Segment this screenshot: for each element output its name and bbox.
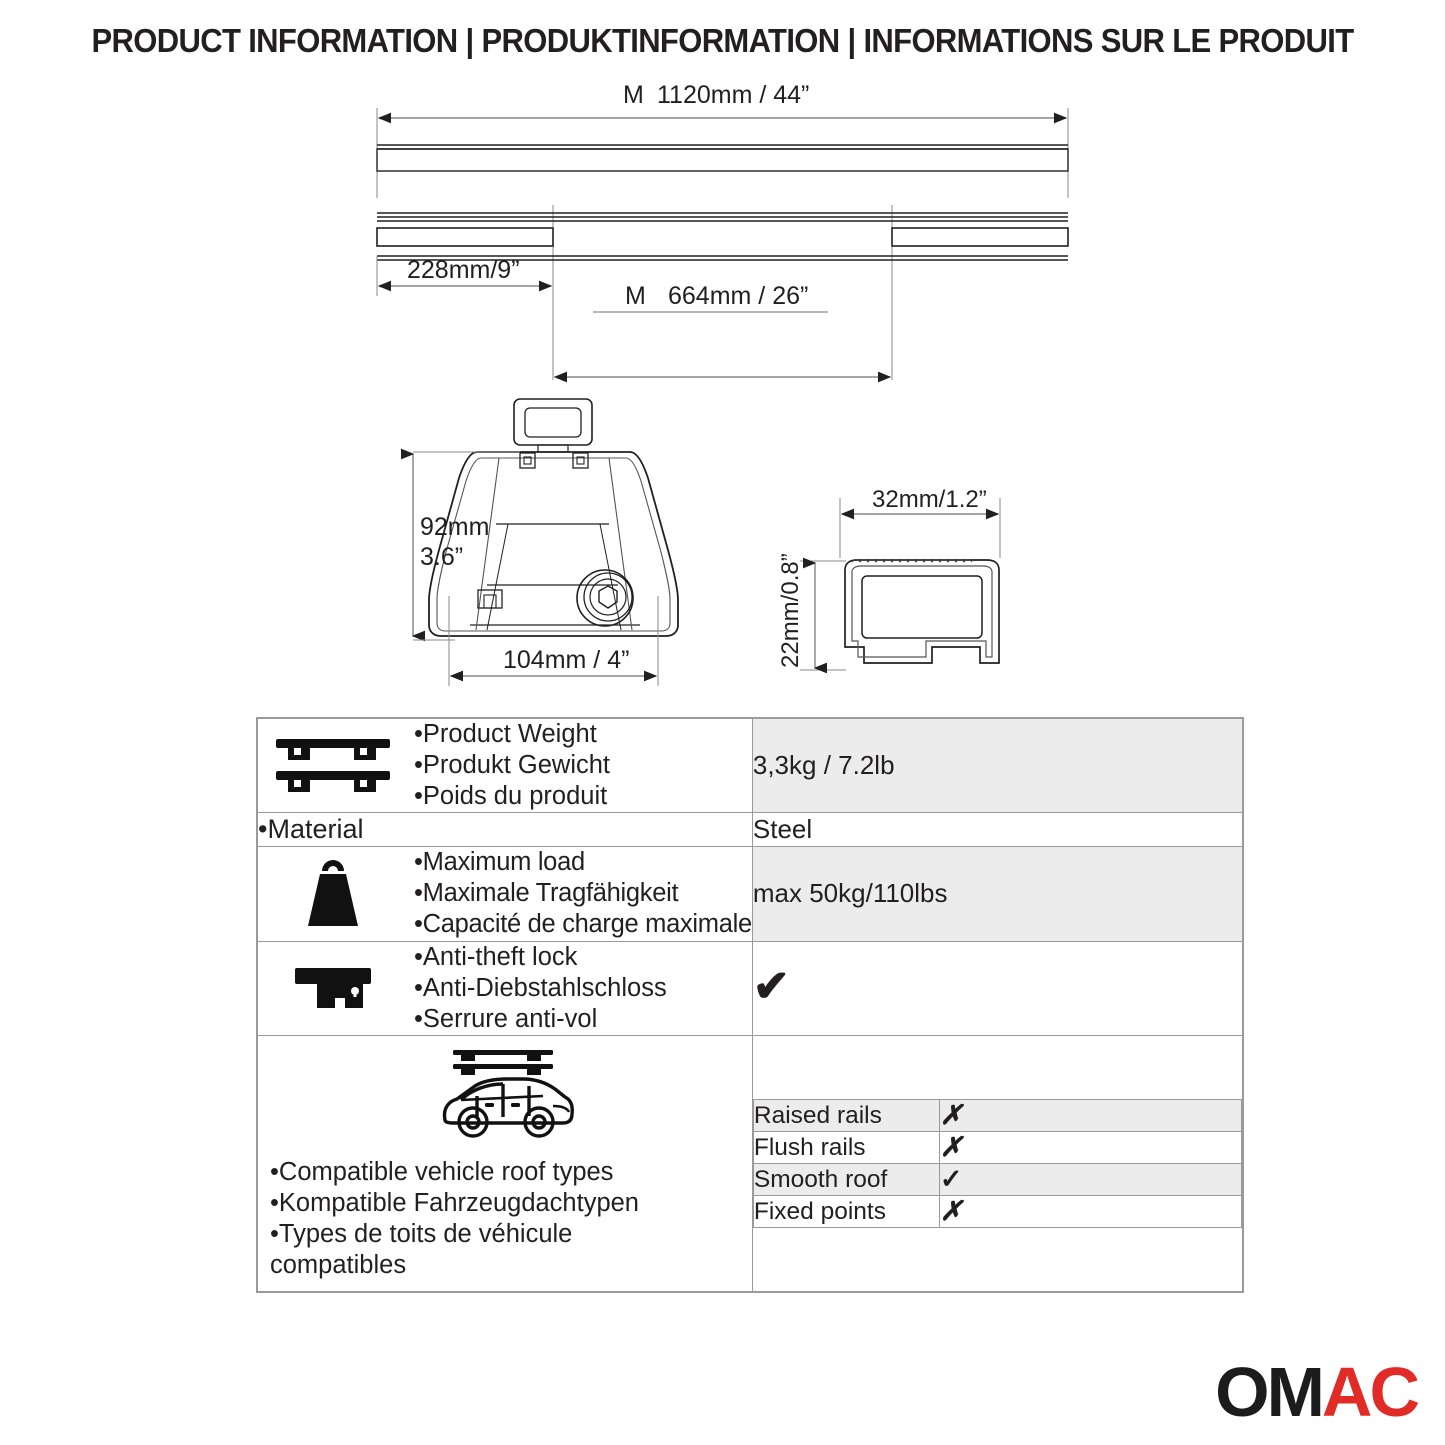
dim-foot-offset-value: 228mm/9” [407,256,520,284]
check-icon: ✔ [753,962,790,1011]
label-line: •Poids du produit [414,781,610,812]
technical-drawing: M 1120mm / 44” 228mm/9” M 664mm / 26” 92… [0,80,1445,710]
cross-icon: ✗ [940,1100,963,1130]
logo-text-dark: OM [1215,1353,1322,1431]
spec-label-cell: •Anti-theft lock •Anti-Diebstahlschloss … [258,941,753,1035]
cross-icon: ✗ [940,1196,963,1226]
roof-types-label-cell: •Compatible vehicle roof types •Kompatib… [258,1035,753,1291]
table-row: •Maximum load •Maximale Tragfähigkeit •C… [258,847,1243,941]
roof-type-mark: ✓ [939,1164,1241,1196]
label-line: •Anti-Diebstahlschloss [414,973,667,1004]
dim-foot-spread-value: 664mm / 26” [668,282,808,310]
dim-profile-width-value: 32mm/1.2” [872,486,987,513]
spec-value-max-load: max 50kg/110lbs [752,847,1242,941]
cross-icon: ✗ [940,1132,963,1162]
label-line: •Material [258,813,752,846]
label-line: •Compatible vehicle roof types [270,1157,639,1188]
label-line: •Serrure anti-vol [414,1004,667,1035]
dim-bar-length-value: 1120mm / 44” [657,81,809,109]
spec-label-text: •Maximum load •Maximale Tragfähigkeit •C… [414,847,752,940]
spec-value-weight: 3,3kg / 7.2lb [752,719,1242,813]
roof-types-label-text: •Compatible vehicle roof types •Kompatib… [258,1157,639,1281]
roof-type-mark: ✗ [939,1100,1241,1132]
dim-foot-height-line1: 92mm [420,513,489,541]
roof-type-mark: ✗ [939,1132,1241,1164]
label-line: •Product Weight [414,719,610,750]
dim-foot-height-line2: 3.6” [420,543,463,571]
roof-type-row: Smooth roof ✓ [753,1164,1241,1196]
label-line: •Produkt Gewicht [414,750,610,781]
car-with-rack-icon [431,1044,579,1153]
page-title: PRODUCT INFORMATION | PRODUKTINFORMATION… [43,22,1401,60]
dim-profile-height-value: 22mm/0.8” [777,553,804,668]
table-row: •Material Steel [258,813,1243,847]
omac-logo: OMAC [1215,1357,1417,1427]
label-line: •Maximum load [414,847,752,878]
roof-type-row: Fixed points ✗ [753,1196,1241,1228]
roof-type-mark: ✗ [939,1196,1241,1228]
weight-icon [258,858,408,930]
roof-type-row: Raised rails ✗ [753,1100,1241,1132]
table-row: •Compatible vehicle roof types •Kompatib… [258,1035,1243,1291]
label-line: •Types de toits de véhicule [270,1219,639,1250]
spec-label-text: •Anti-theft lock •Anti-Diebstahlschloss … [414,942,667,1035]
dim-bar-length-prefix: M [623,81,644,109]
label-line: •Capacité de charge maximale [414,909,752,940]
roof-types-table: Raised rails ✗ Flush rails ✗ Smooth roof… [753,1099,1242,1228]
spec-value-anti-theft: ✔ [752,941,1242,1035]
roof-type-name: Flush rails [753,1132,939,1164]
label-line: compatibles [270,1250,639,1281]
table-row: •Anti-theft lock •Anti-Diebstahlschloss … [258,941,1243,1035]
spec-label-text: •Product Weight •Produkt Gewicht •Poids … [414,719,610,812]
roof-type-name: Raised rails [753,1100,939,1132]
spec-label-cell: •Product Weight •Produkt Gewicht •Poids … [258,719,753,813]
crossbars-icon [258,735,408,797]
spec-label-cell: •Maximum load •Maximale Tragfähigkeit •C… [258,847,753,941]
dim-foot-spread-prefix: M [625,282,646,310]
check-icon: ✓ [940,1164,963,1194]
roof-type-row: Flush rails ✗ [753,1132,1241,1164]
roof-types-table-cell: Raised rails ✗ Flush rails ✗ Smooth roof… [752,1035,1242,1291]
logo-text-red: AC [1322,1353,1417,1431]
lock-icon [258,960,408,1016]
dim-foot-width-value: 104mm / 4” [503,646,629,674]
spec-label-text: •Material [258,813,752,846]
label-line: •Maximale Tragfähigkeit [414,878,752,909]
roof-type-name: Fixed points [753,1196,939,1228]
spec-label-cell: •Material [258,813,753,847]
roof-type-name: Smooth roof [753,1164,939,1196]
spec-table: •Product Weight •Produkt Gewicht •Poids … [256,717,1244,1293]
label-line: •Kompatible Fahrzeugdachtypen [270,1188,639,1219]
spec-value-material: Steel [752,813,1242,847]
table-row: •Product Weight •Produkt Gewicht •Poids … [258,719,1243,813]
label-line: •Anti-theft lock [414,942,667,973]
